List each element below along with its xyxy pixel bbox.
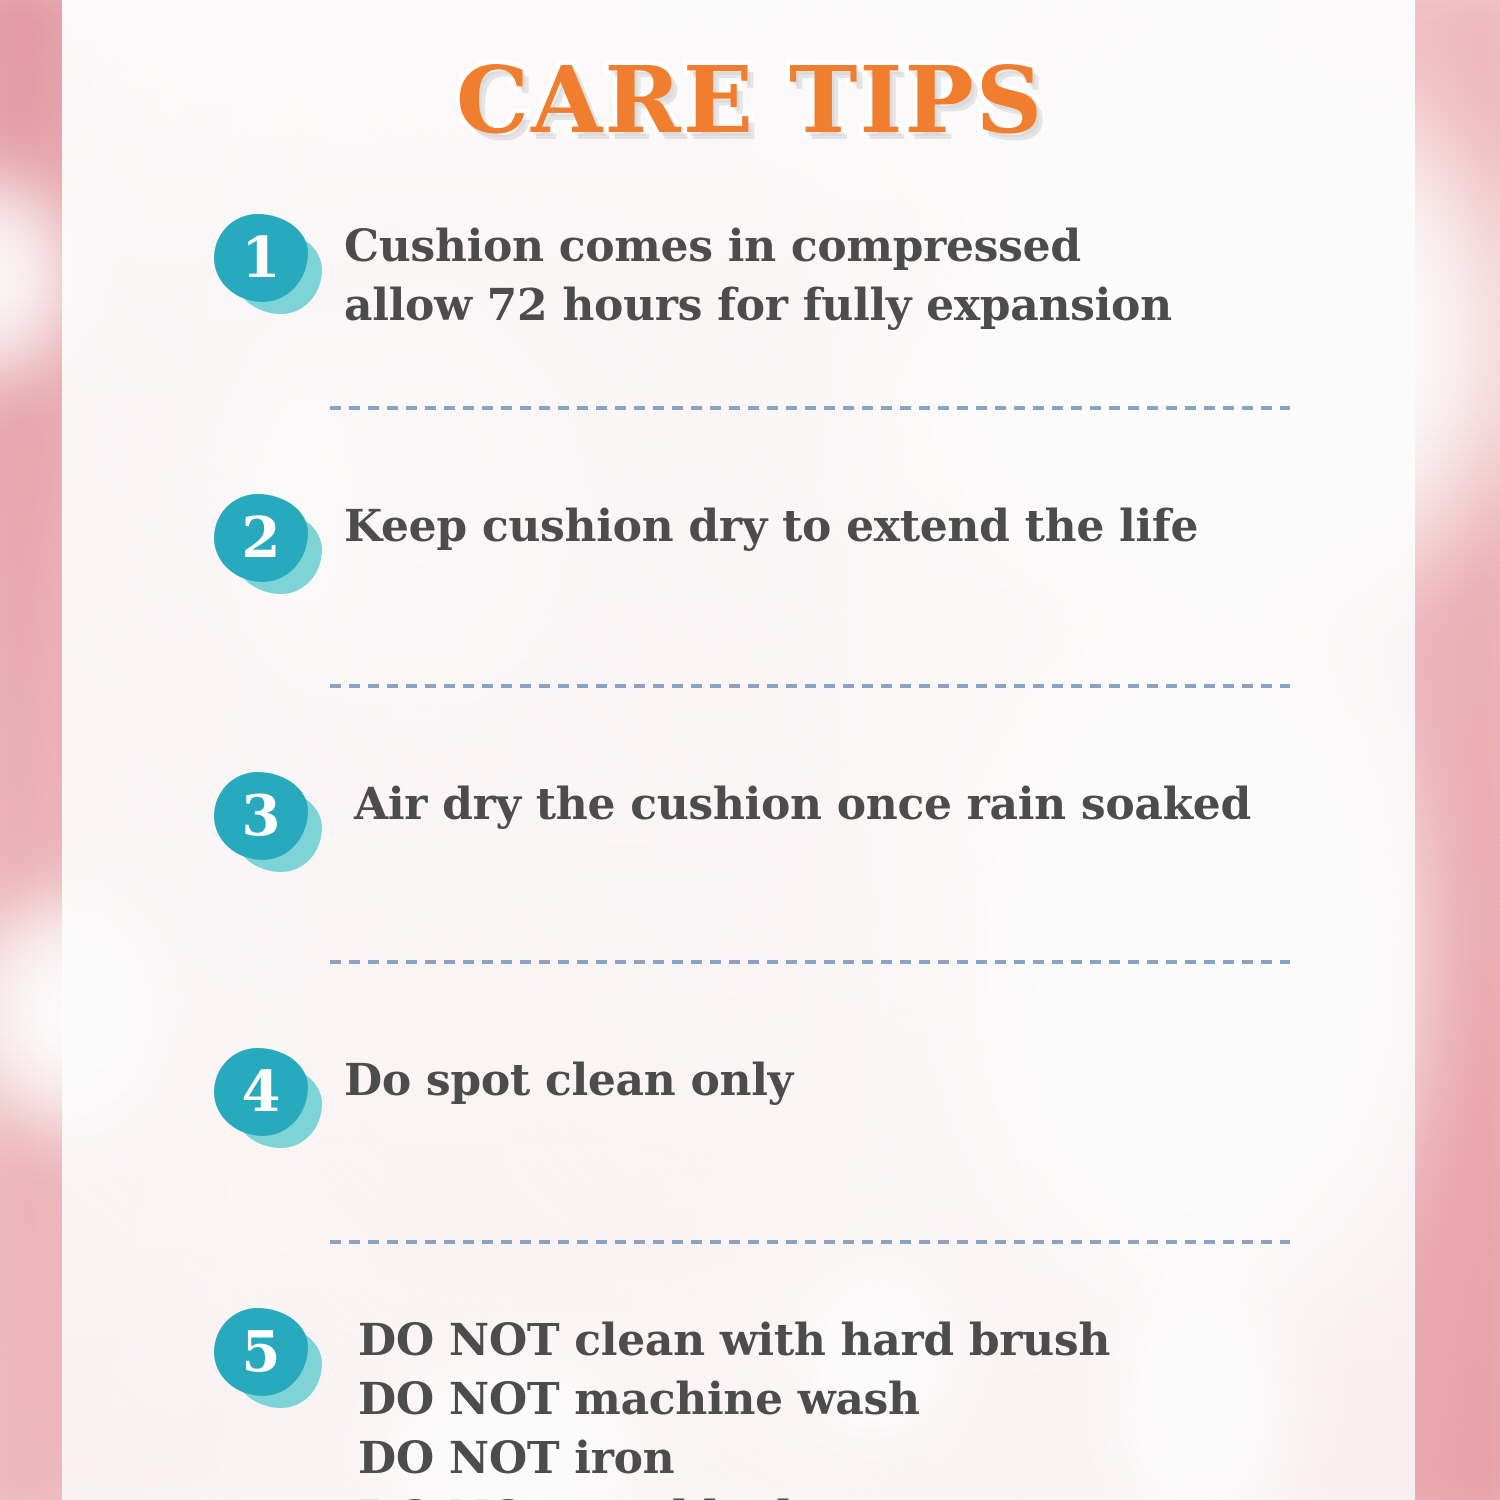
- tip-badge-2: 2: [212, 494, 322, 598]
- badge-number-label: 5: [214, 1308, 308, 1396]
- spacer: [0, 876, 1500, 960]
- badge-number-label: 1: [214, 214, 308, 302]
- spacer: [0, 336, 1500, 406]
- poster-content: CARE TIPS 1 Cushion comes in compressed …: [0, 0, 1500, 1500]
- tip-badge-5: 5: [212, 1308, 322, 1412]
- tip-badge-4: 4: [212, 1048, 322, 1152]
- tip-item-4: 4 Do spot clean only: [0, 1048, 1500, 1152]
- badge-number-label: 2: [214, 494, 308, 582]
- care-tips-poster: CARE TIPS 1 Cushion comes in compressed …: [0, 0, 1500, 1500]
- tip-text-2: Keep cushion dry to extend the life: [344, 494, 1198, 557]
- tip-item-5: 5 DO NOT clean with hard brush DO NOT ma…: [0, 1308, 1500, 1500]
- page-title: CARE TIPS: [0, 52, 1500, 149]
- tip-text-3: Air dry the cushion once rain soaked: [354, 772, 1251, 835]
- spacer: [0, 1152, 1500, 1240]
- tips-list: 1 Cushion comes in compressed allow 72 h…: [0, 214, 1500, 1500]
- spacer: [0, 688, 1500, 772]
- spacer: [0, 964, 1500, 1048]
- tip-item-2: 2 Keep cushion dry to extend the life: [0, 494, 1500, 598]
- tip-text-5: DO NOT clean with hard brush DO NOT mach…: [358, 1308, 1185, 1500]
- tip-divider-3: [330, 960, 1290, 964]
- tip-item-3: 3 Air dry the cushion once rain soaked: [0, 772, 1500, 876]
- spacer: [0, 1244, 1500, 1308]
- spacer: [0, 410, 1500, 494]
- spacer: [0, 598, 1500, 684]
- tip-divider-2: [330, 684, 1290, 688]
- tip-divider-1: [330, 406, 1290, 410]
- tip-item-1: 1 Cushion comes in compressed allow 72 h…: [0, 214, 1500, 336]
- tip-badge-1: 1: [212, 214, 322, 318]
- tip-divider-4: [330, 1240, 1290, 1244]
- badge-number-label: 4: [214, 1048, 308, 1136]
- tip-text-1: Cushion comes in compressed allow 72 hou…: [344, 214, 1172, 336]
- tip-badge-3: 3: [212, 772, 322, 876]
- badge-number-label: 3: [214, 772, 308, 860]
- tip-text-4: Do spot clean only: [344, 1048, 793, 1111]
